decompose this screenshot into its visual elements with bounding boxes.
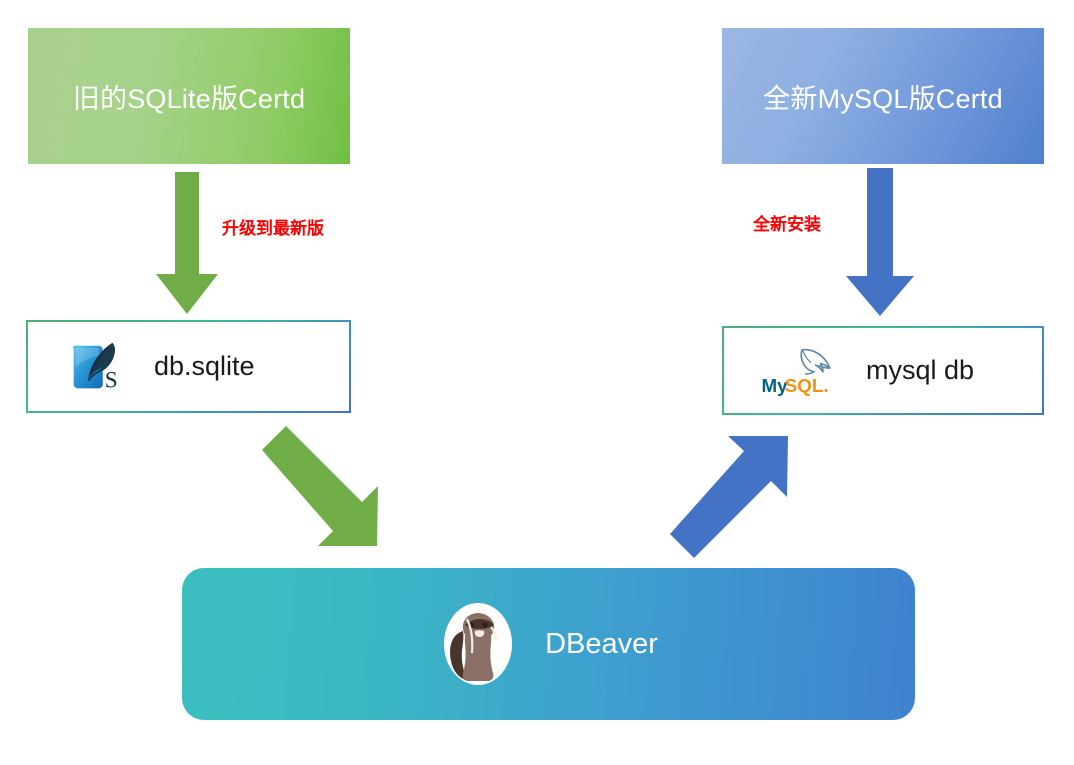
svg-text:SQL: SQL [785, 375, 824, 396]
dbeaver-label: DBeaver [545, 628, 658, 661]
db-mysql-box: My SQL mysql db [722, 326, 1044, 415]
fresh-install-arrow-label: 全新安装 [753, 210, 821, 235]
arrow-down-icon-blue [838, 168, 934, 316]
dbeaver-beaver-icon [439, 601, 517, 687]
db-sqlite-label: db.sqlite [154, 351, 255, 382]
mysql-target-title-box: 全新MySQL版Certd [722, 28, 1044, 164]
sqlite-logo-icon: S [64, 336, 126, 398]
arrow-diagonal-down-right-icon [244, 414, 388, 558]
db-mysql-label: mysql db [866, 355, 974, 386]
arrow-down-icon-green [148, 172, 244, 314]
sqlite-source-title-label: 旧的SQLite版Certd [73, 77, 305, 116]
dbeaver-target-box: DBeaver [182, 568, 915, 720]
sqlite-source-title-box: 旧的SQLite版Certd [28, 28, 350, 164]
svg-text:S: S [105, 367, 118, 393]
db-sqlite-box: S db.sqlite [26, 320, 351, 413]
mysql-logo-icon: My SQL [760, 345, 838, 397]
upgrade-arrow-label: 升级到最新版 [222, 214, 324, 239]
arrow-diagonal-up-right-icon [658, 424, 804, 570]
mysql-target-title-label: 全新MySQL版Certd [763, 77, 1003, 116]
diagram-canvas: 旧的SQLite版Certd 全新MySQL版Certd 升级到最新版 全新安装 [0, 0, 1074, 765]
